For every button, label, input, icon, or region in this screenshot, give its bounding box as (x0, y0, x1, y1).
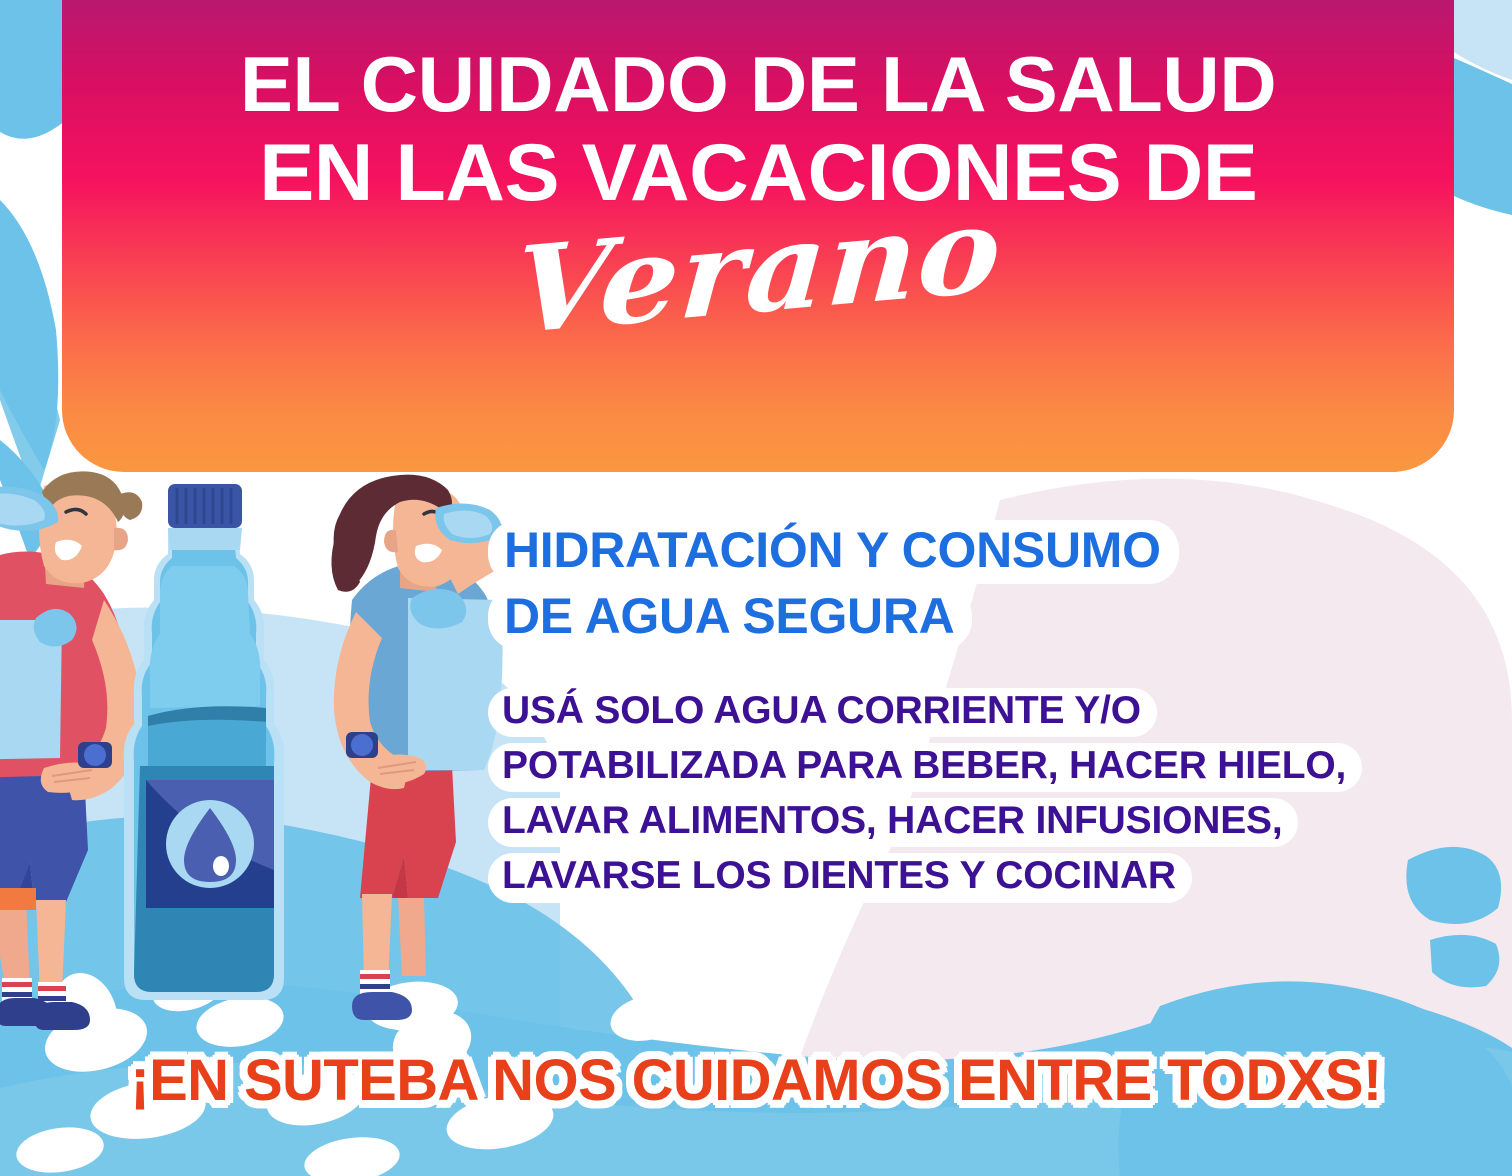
call-to-action-area: ¡EN SUTEBA NOS CUIDAMOS ENTRE TODXS! (0, 1052, 1512, 1110)
headline-line-1: EL CUIDADO DE LA SALUD (240, 46, 1276, 123)
water-drop-highlight (213, 856, 229, 876)
man-sock-stripe-1 (2, 982, 32, 987)
woman-shoe (352, 992, 412, 1020)
body-highlight-2: POTABILIZADA PARA BEBER, HACER HIELO, (488, 743, 1362, 792)
body-highlight-3: LAVAR ALIMENTOS, HACER INFUSIONES, (488, 798, 1298, 847)
woman-leg-back (398, 898, 426, 976)
woman-watch-face (351, 734, 373, 756)
man-ear (114, 528, 128, 551)
body-line-1: USÁ SOLO AGUA CORRIENTE Y/O (502, 689, 1141, 732)
bottle-water-lower (148, 720, 266, 766)
poster-root: EL CUIDADO DE LA SALUD EN LAS VACACIONES… (0, 0, 1512, 1176)
bottle-water-upper (150, 566, 261, 708)
body-line-3: LAVAR ALIMENTOS, HACER INFUSIONES, (502, 799, 1282, 842)
header-banner: EL CUIDADO DE LA SALUD EN LAS VACACIONES… (62, 0, 1454, 472)
man-hair-bun (120, 492, 143, 520)
woman-sock-stripe-1 (360, 974, 390, 979)
water-bottle (124, 484, 285, 1000)
heading-highlight-1: HIDRATACIÓN Y CONSUMO (488, 520, 1179, 584)
section-heading: HIDRATACIÓN Y CONSUMO DE AGUA SEGURA (488, 520, 1478, 652)
man-drinking-water (0, 471, 142, 1030)
bottle-neck-ring (168, 528, 242, 550)
main-content: HIDRATACIÓN Y CONSUMO DE AGUA SEGURA USÁ… (488, 520, 1478, 909)
man-leg-back (0, 900, 30, 990)
illustration-group (0, 470, 520, 1030)
body-line-4: LAVARSE LOS DIENTES Y COCINAR (502, 854, 1176, 897)
heading-line-1: HIDRATACIÓN Y CONSUMO (504, 522, 1161, 578)
man-sock-stripe-4 (38, 996, 66, 1001)
man-watch-face (84, 744, 106, 766)
man-leg-front (36, 900, 66, 994)
call-to-action-text: ¡EN SUTEBA NOS CUIDAMOS ENTRE TODXS! (130, 1052, 1381, 1110)
body-highlight-4: LAVARSE LOS DIENTES Y COCINAR (488, 853, 1192, 902)
man-shorts-hem (0, 888, 36, 910)
woman-shorts (360, 766, 456, 898)
heading-line-2: DE AGUA SEGURA (504, 588, 954, 644)
man-shoe-front (34, 1002, 90, 1030)
body-line-2: POTABILIZADA PARA BEBER, HACER HIELO, (502, 744, 1346, 787)
bottle-cap-ridges (177, 488, 231, 524)
man-sock-stripe-3 (38, 986, 66, 991)
body-highlight-1: USÁ SOLO AGUA CORRIENTE Y/O (488, 688, 1157, 737)
woman-sock-stripe-2 (360, 984, 390, 989)
section-body: USÁ SOLO AGUA CORRIENTE Y/O POTABILIZADA… (488, 688, 1478, 909)
heading-highlight-2: DE AGUA SEGURA (488, 586, 972, 650)
wave-topleft-light (0, 0, 66, 139)
woman-ear (384, 530, 398, 553)
woman-splash-chest (410, 589, 466, 629)
man-sock-stripe-2 (2, 992, 32, 997)
